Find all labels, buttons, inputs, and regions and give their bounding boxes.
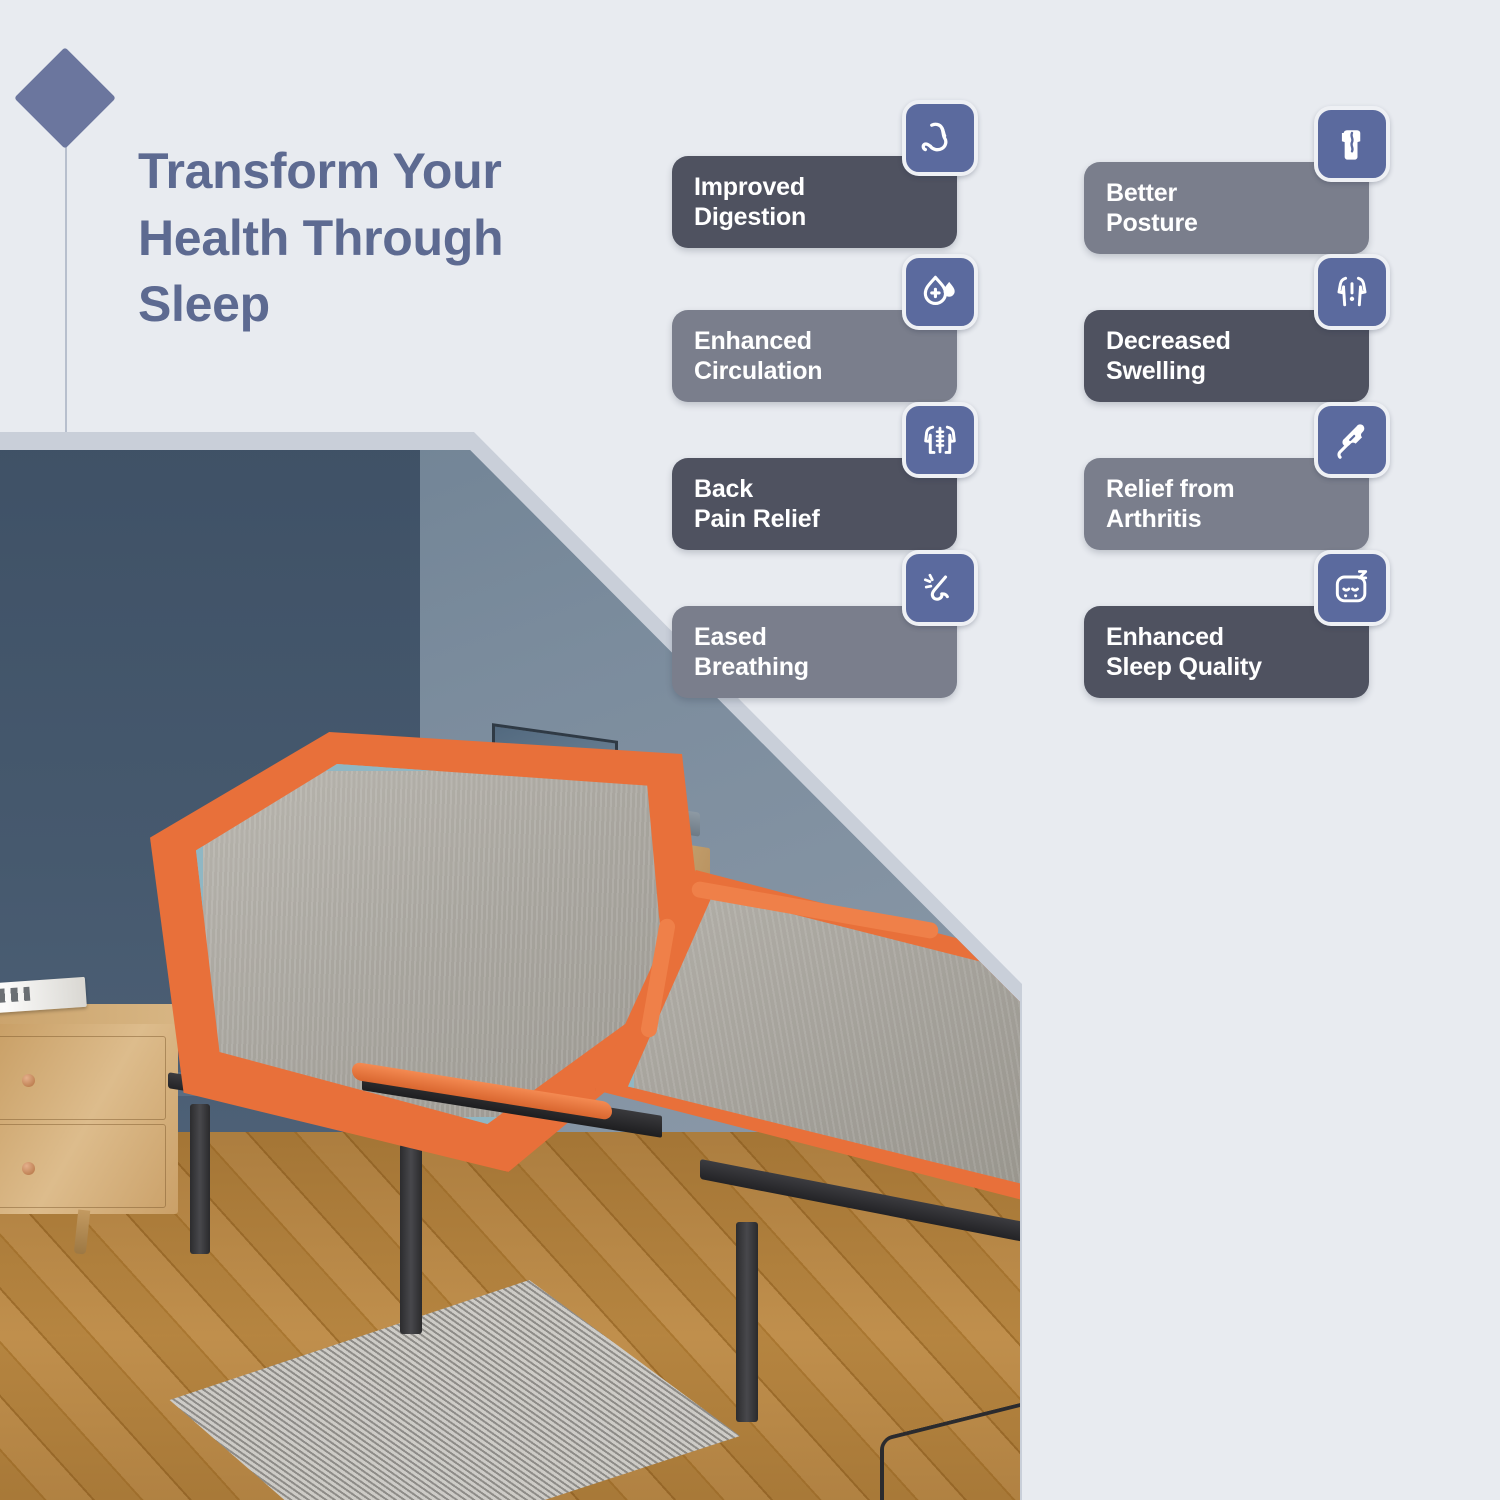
blood-drop-icon	[902, 254, 978, 330]
mattress-retainer-bar	[880, 1386, 1020, 1500]
benefit-label: Relief from Arthritis	[1084, 474, 1234, 535]
bed-leg	[736, 1222, 758, 1422]
benefit-back-pain-relief[interactable]: Back Pain Relief	[672, 396, 962, 544]
benefit-label: Enhanced Circulation	[672, 326, 822, 387]
benefit-label: Back Pain Relief	[672, 474, 820, 535]
poster-stage: Transform Your Health Through Sleep	[0, 0, 1500, 1500]
benefit-improved-digestion[interactable]: Improved Digestion	[672, 100, 962, 248]
benefits-column-left: Improved Digestion Enhanced Circulation	[672, 100, 962, 692]
benefit-enhanced-circulation[interactable]: Enhanced Circulation	[672, 248, 962, 396]
page-title: Transform Your Health Through Sleep	[138, 138, 608, 338]
body-swelling-icon	[1314, 254, 1390, 330]
benefit-label: Eased Breathing	[672, 622, 809, 683]
diamond-marker-icon	[14, 47, 116, 149]
benefit-decreased-swelling[interactable]: Decreased Swelling	[1084, 248, 1374, 396]
bed-leg	[400, 1144, 422, 1334]
benefit-label: Decreased Swelling	[1084, 326, 1231, 387]
marker-connector-line	[65, 130, 67, 460]
benefit-relief-from-arthritis[interactable]: Relief from Arthritis	[1084, 396, 1374, 544]
sleep-zzz-icon	[1314, 550, 1390, 626]
benefit-label: Improved Digestion	[672, 172, 806, 233]
spine-back-icon	[902, 402, 978, 478]
benefits-column-right: Better Posture Decreased Swelling	[1084, 100, 1374, 692]
bed-leg	[190, 1104, 210, 1254]
nose-airway-icon	[902, 550, 978, 626]
benefit-eased-breathing[interactable]: Eased Breathing	[672, 544, 962, 692]
benefit-label: Better Posture	[1084, 178, 1198, 239]
knee-joint-icon	[1314, 402, 1390, 478]
stomach-icon	[902, 100, 978, 176]
torso-posture-icon	[1314, 106, 1390, 182]
benefit-enhanced-sleep-quality[interactable]: Enhanced Sleep Quality	[1084, 544, 1374, 692]
benefit-better-posture[interactable]: Better Posture	[1084, 100, 1374, 248]
benefit-label: Enhanced Sleep Quality	[1084, 622, 1262, 683]
